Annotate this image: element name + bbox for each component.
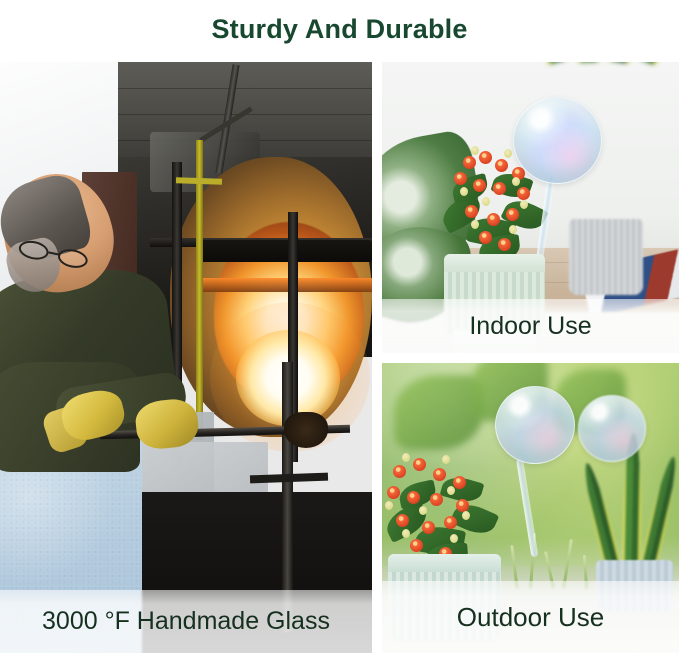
infographic-page: Sturdy And Durable	[0, 0, 679, 653]
grey-ribbed-pot	[569, 219, 643, 295]
page-title: Sturdy And Durable	[0, 0, 679, 58]
watering-globe-outdoor-1	[495, 386, 575, 464]
watering-globe-indoor	[513, 97, 602, 184]
caption-indoor-use: Indoor Use	[382, 299, 679, 353]
furnace-stand-foot	[250, 473, 328, 484]
outdoor-use-photo: Outdoor Use	[382, 363, 679, 653]
caption-outdoor-use: Outdoor Use	[382, 581, 679, 653]
handmade-glass-photo: 3000 °F Handmade Glass	[0, 62, 372, 653]
watering-globe-outdoor-2	[578, 395, 646, 462]
furnace-lintel	[196, 240, 372, 262]
yellow-rod	[196, 140, 203, 440]
caption-handmade-glass: 3000 °F Handmade Glass	[0, 590, 372, 653]
molten-gather	[284, 412, 328, 448]
indoor-use-photo: Indoor Use	[382, 62, 679, 353]
glassblower-scene	[0, 62, 372, 653]
furnace-hot-ledge	[196, 278, 372, 292]
